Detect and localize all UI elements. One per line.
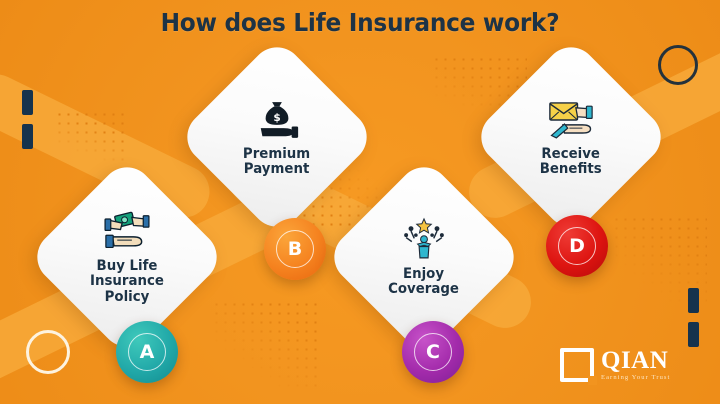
- step-badge-letter: B: [276, 230, 314, 268]
- money-bag-on-hand-icon: $: [251, 97, 303, 143]
- brand-logo[interactable]: QIAN Earning Your Trust: [560, 348, 670, 382]
- page-title: How does Life Insurance work?: [25, 8, 695, 37]
- svg-text:$: $: [273, 112, 280, 124]
- square-outline-logo-mark-icon: [560, 348, 594, 382]
- decorative-circle-outline: [658, 45, 698, 85]
- envelope-handover-icon: [545, 97, 597, 143]
- step-card-d[interactable]: Receive Benefits: [471, 37, 672, 238]
- step-card-label: Receive Benefits: [540, 147, 602, 177]
- step-badge-letter: A: [128, 333, 166, 371]
- step-card-b[interactable]: $ Premium Payment: [177, 37, 378, 238]
- step-badge-c[interactable]: C: [402, 321, 464, 383]
- dot-pattern: [55, 110, 130, 172]
- step-card-label: Buy Life Insurance Policy: [62, 259, 193, 305]
- hands-exchanging-money-icon: [101, 209, 153, 255]
- infographic-canvas: How does Life Insurance work? Buy Life I…: [0, 0, 720, 404]
- decorative-bar: [22, 90, 33, 115]
- step-card-label: Enjoy Coverage: [389, 267, 460, 297]
- step-card-label: Premium Payment: [243, 147, 310, 177]
- step-badge-letter: D: [558, 227, 596, 265]
- decorative-circle-outline: [26, 330, 70, 374]
- step-badge-a[interactable]: A: [116, 321, 178, 383]
- step-badge-b[interactable]: B: [264, 218, 326, 280]
- step-badge-letter: C: [414, 333, 452, 371]
- step-badge-d[interactable]: D: [546, 215, 608, 277]
- decorative-bar: [688, 322, 699, 347]
- dot-pattern: [212, 300, 322, 390]
- decorative-bar: [22, 124, 33, 149]
- brand-tagline: Earning Your Trust: [601, 375, 670, 382]
- decorative-bar: [688, 288, 699, 313]
- celebrating-person-icon: [398, 217, 450, 263]
- brand-logo-text: QIAN Earning Your Trust: [601, 348, 670, 382]
- brand-name: QIAN: [601, 348, 670, 373]
